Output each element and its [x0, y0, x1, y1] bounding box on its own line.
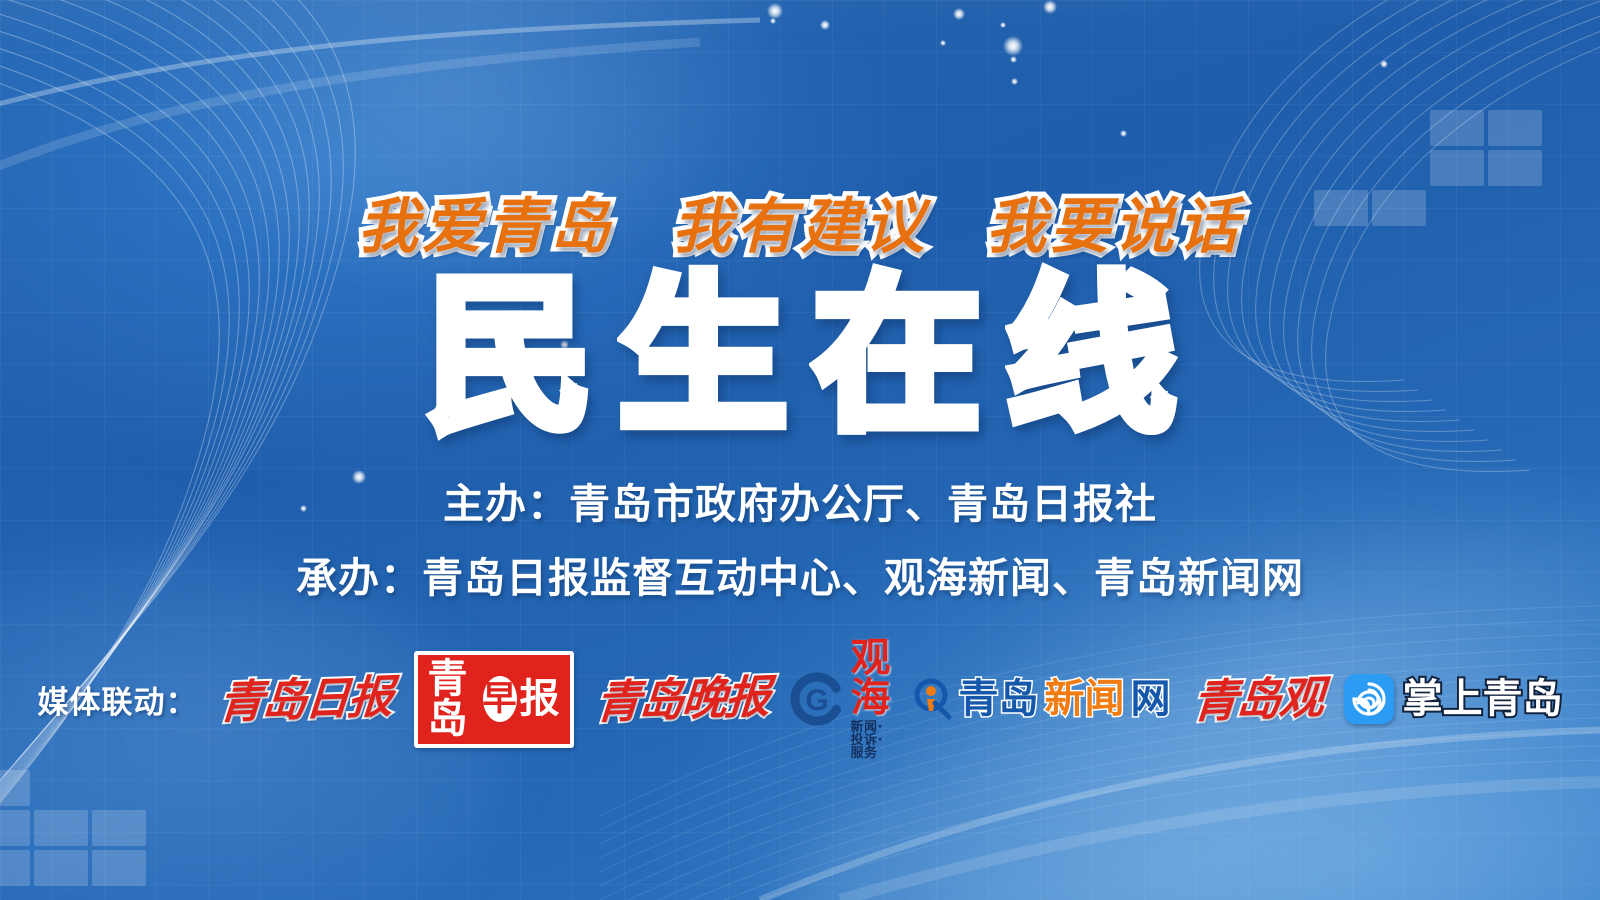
logo-qingdao-wanbao[interactable]: 青岛晚报 [594, 674, 770, 725]
main-title-char-1: 民 [425, 271, 593, 442]
logo-qingdao-zaobao[interactable]: 青岛 早 报 [414, 651, 574, 748]
slogan-phrase-2: 我有建议 [672, 196, 928, 259]
poster-canvas: 我爱青岛 我有建议 我要说话 民 生 在 线 主办：青岛市政府办公厅、青岛日报社… [0, 0, 1600, 900]
slogan-row: 我爱青岛 我有建议 我要说话 [358, 196, 1242, 259]
guanhai-subtitle: 新闻·投诉·服务 [851, 721, 891, 760]
svg-text:G: G [805, 684, 828, 717]
magnifier-q-icon [913, 677, 953, 721]
qdnews-blue-1: 青岛 [959, 679, 1039, 719]
media-partners-row: 媒体联动： 青岛日报 青岛 早 报 青岛晚报 G 观海 [0, 638, 1600, 760]
main-title-char-2: 生 [619, 271, 787, 442]
logo-qingdao-ribao[interactable]: 青岛日报 [218, 674, 394, 725]
guanhai-brush-circle-icon: G [790, 672, 844, 726]
main-title-char-3: 在 [813, 271, 981, 442]
zaobao-right-text: 报 [520, 679, 560, 719]
guanhai-text-block: 观海 新闻·投诉·服务 [851, 638, 891, 760]
zaobao-left-text: 青岛 [428, 659, 480, 739]
qdnews-orange: 新闻 [1045, 679, 1125, 719]
main-title: 民 生 在 线 [425, 271, 1175, 442]
guanhai-name: 观海 [851, 638, 891, 718]
zaobao-circle-char: 早 [483, 676, 517, 722]
organizer-line: 承办：青岛日报监督互动中心、观海新闻、青岛新闻网 [296, 544, 1304, 604]
host-line: 主办：青岛市政府办公厅、青岛日报社 [443, 470, 1157, 530]
poster-content: 我爱青岛 我有建议 我要说话 民 生 在 线 主办：青岛市政府办公厅、青岛日报社… [0, 0, 1600, 900]
slogan-phrase-3: 我要说话 [986, 196, 1242, 259]
logo-qingdao-xinwenwang[interactable]: 青岛 新闻 网 [913, 677, 1171, 721]
logo-qingdao-guan[interactable]: 青岛观 [1191, 675, 1324, 724]
main-title-char-4: 线 [1007, 271, 1175, 442]
zhangshang-name: 掌上青岛 [1403, 679, 1563, 719]
logo-guanhai[interactable]: G 观海 新闻·投诉·服务 [790, 638, 891, 760]
qdnews-blue-2: 网 [1131, 679, 1171, 719]
logo-zhangshang-qingdao[interactable]: 掌上青岛 [1344, 674, 1563, 724]
media-label: 媒体联动： [37, 677, 197, 722]
spiral-icon [1344, 674, 1394, 724]
slogan-phrase-1: 我爱青岛 [358, 196, 614, 259]
